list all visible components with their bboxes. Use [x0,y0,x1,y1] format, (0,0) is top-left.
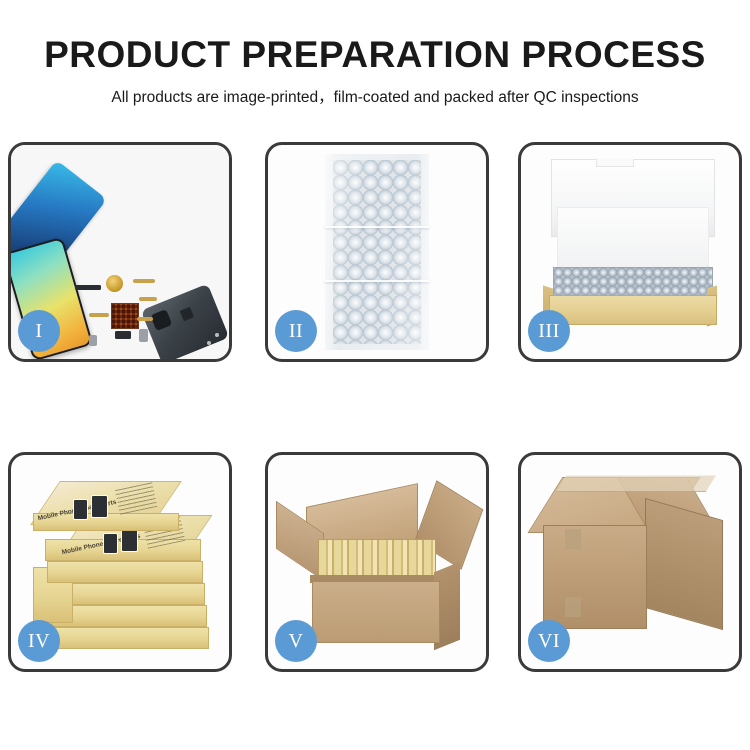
retail-box-screen-img-2b [121,529,138,552]
carton-seal-mark-bottom [565,597,581,617]
process-step-card-5[interactable]: V [265,452,489,672]
step-badge-3: III [528,310,570,352]
process-step-card-2[interactable]: II [265,142,489,362]
step-badge-1: I [18,310,60,352]
retail-box-6 [53,627,209,649]
foam-sheet [557,207,709,269]
retail-box-5 [51,605,207,627]
process-step-grid: I II III [8,142,742,742]
retail-box-3 [47,561,203,583]
packing-tape-strip [556,475,717,492]
earpiece-part [75,285,101,290]
flex-cable-part-3 [89,313,109,317]
flex-cable-part-4 [137,317,153,321]
step-badge-4: IV [18,620,60,662]
carton-front-panel [312,581,440,643]
step-badge-5: V [275,620,317,662]
chip-grid-part [111,303,139,329]
retail-box-screen-img-2a [103,533,118,554]
step-badge-2: II [275,310,317,352]
ic-chip-part [115,331,131,339]
bubble-wrap-pouch [325,154,429,350]
sealed-carton-front-panel [543,525,647,629]
process-step-card-1[interactable]: I [8,142,232,362]
process-step-card-4[interactable]: Mobile Phone Spare Parts Mobile Phone Sp… [8,452,232,672]
step-badge-6: VI [528,620,570,662]
screw-part-1 [207,341,211,345]
flex-cable-part-2 [139,297,157,301]
page-subtitle: All products are image-printed，film-coat… [0,76,750,107]
product-preparation-infographic: PRODUCT PREPARATION PROCESS All products… [0,0,750,750]
speaker-coil-part [106,275,123,292]
screw-part-2 [215,333,219,337]
sealed-carton-right-panel [645,498,723,630]
process-step-card-6[interactable]: VI [518,452,742,672]
retail-box-screen-img-1b [91,495,108,518]
small-connector-part [89,335,97,346]
header: PRODUCT PREPARATION PROCESS All products… [0,0,750,107]
page-title: PRODUCT PREPARATION PROCESS [0,0,750,76]
bubble-wrapped-contents [553,267,713,297]
process-step-card-3[interactable]: III [518,142,742,362]
bubble-wrap-gloss [325,154,429,350]
retail-box-screen-img-1a [73,499,88,520]
carton-seal-mark-top [565,529,581,549]
battery-part [139,329,148,342]
mailer-front-panel [549,295,717,325]
flex-cable-part-1 [133,279,155,283]
